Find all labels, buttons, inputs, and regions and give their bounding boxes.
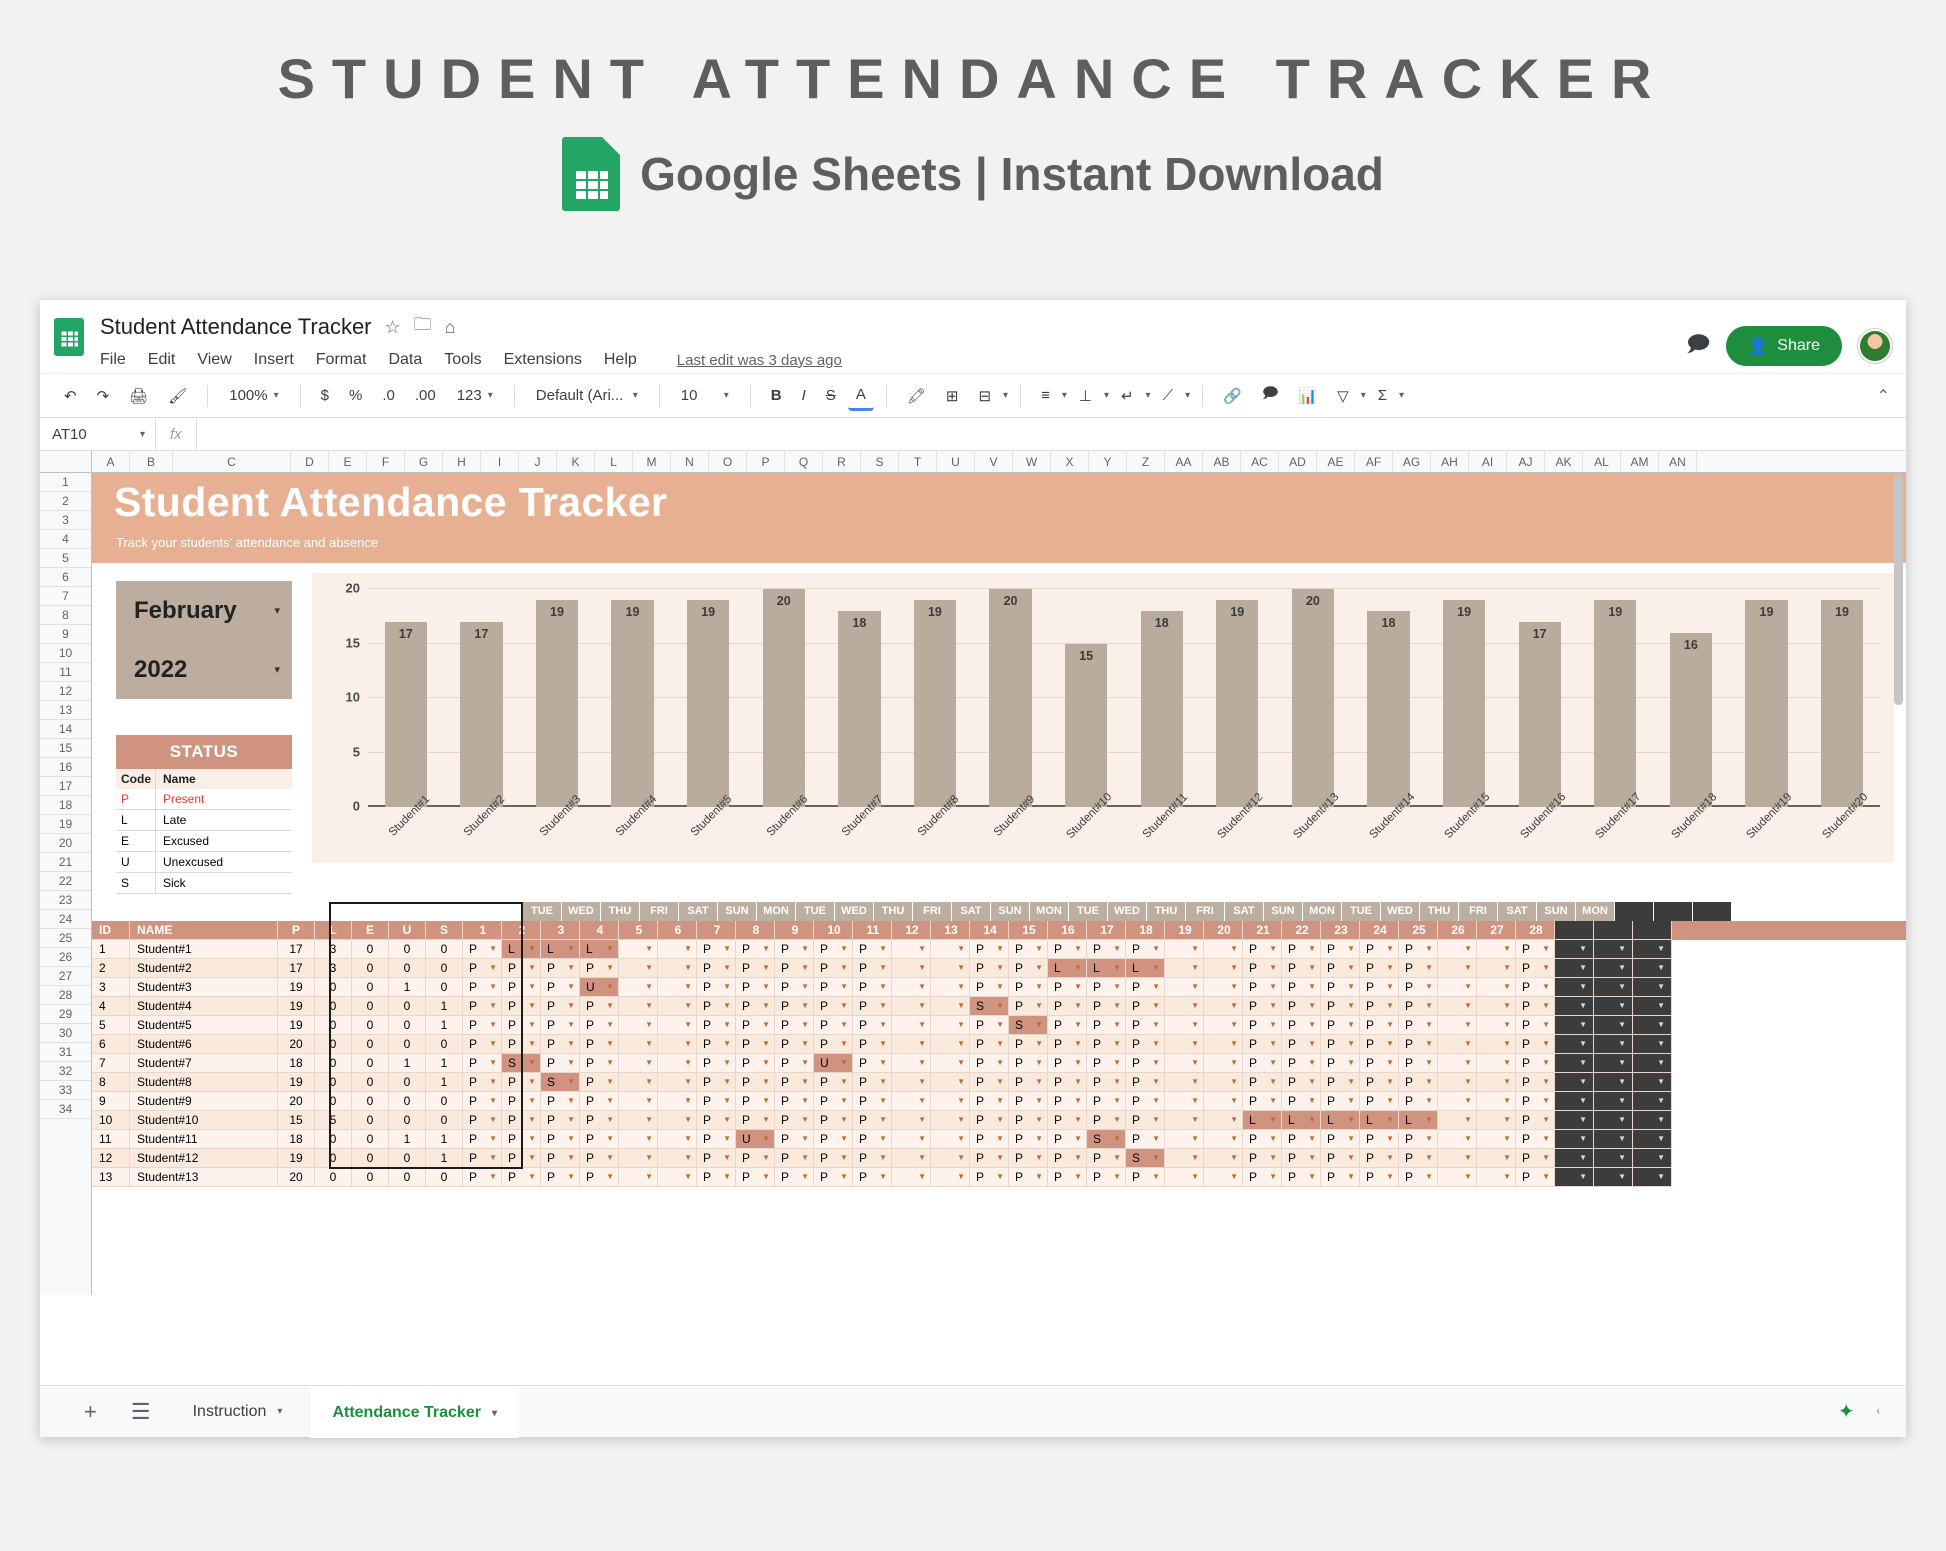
chevron-down-icon[interactable]: ▼	[1308, 1073, 1316, 1091]
chevron-down-icon[interactable]: ▼	[645, 1149, 653, 1167]
chevron-down-icon[interactable]: ▼	[1618, 1092, 1626, 1110]
chevron-down-icon[interactable]: ▼	[840, 1111, 848, 1129]
chevron-down-icon[interactable]: ▼	[1425, 1130, 1433, 1148]
attendance-cell[interactable]: P▼	[1360, 978, 1399, 997]
chevron-down-icon[interactable]: ▼	[1503, 1168, 1511, 1186]
attendance-cell[interactable]: ▼	[658, 940, 697, 959]
attendance-cell[interactable]: P▼	[463, 1130, 502, 1149]
attendance-cell[interactable]: P▼	[775, 1035, 814, 1054]
attendance-cell[interactable]: P▼	[580, 1035, 619, 1054]
chevron-down-icon[interactable]: ▼	[645, 940, 653, 958]
chevron-down-icon[interactable]: ▼	[684, 1073, 692, 1091]
chevron-down-icon[interactable]: ▼	[1269, 1054, 1277, 1072]
attendance-cell[interactable]: ▼	[619, 1149, 658, 1168]
attendance-cell[interactable]: P▼	[1048, 1035, 1087, 1054]
chevron-down-icon[interactable]: ▼	[1425, 1149, 1433, 1167]
chevron-down-icon[interactable]: ▼	[1657, 1092, 1665, 1110]
attendance-cell[interactable]: ▼	[619, 1130, 658, 1149]
attendance-cell[interactable]: P▼	[970, 959, 1009, 978]
attendance-cell[interactable]: P▼	[814, 1168, 853, 1187]
attendance-cell[interactable]: P▼	[1321, 1016, 1360, 1035]
chevron-down-icon[interactable]: ▼	[1503, 1035, 1511, 1053]
empty-dark-cell[interactable]: ▼	[1594, 1111, 1633, 1130]
attendance-cell[interactable]: P▼	[1126, 1130, 1165, 1149]
chevron-down-icon[interactable]: ▼	[723, 1016, 731, 1034]
attendance-cell[interactable]: ▼	[931, 1035, 970, 1054]
attendance-cell[interactable]: ▼	[658, 997, 697, 1016]
attendance-cell[interactable]: P▼	[1321, 1149, 1360, 1168]
attendance-cell[interactable]: P▼	[541, 1092, 580, 1111]
chevron-down-icon[interactable]: ▼	[567, 1054, 575, 1072]
chevron-down-icon[interactable]: ▼	[957, 1111, 965, 1129]
attendance-cell[interactable]: P▼	[1321, 1130, 1360, 1149]
attendance-cell[interactable]: L▼	[1321, 1111, 1360, 1130]
chevron-down-icon[interactable]: ▼	[1425, 940, 1433, 958]
attendance-cell[interactable]: P▼	[814, 1092, 853, 1111]
chevron-down-icon[interactable]: ▼	[1308, 1130, 1316, 1148]
chevron-down-icon[interactable]: ▼	[1308, 940, 1316, 958]
attendance-cell[interactable]: P▼	[1516, 959, 1555, 978]
chevron-down-icon[interactable]: ▼	[1542, 978, 1550, 996]
attendance-cell[interactable]: P▼	[1399, 1092, 1438, 1111]
attendance-cell[interactable]: P▼	[814, 1016, 853, 1035]
attendance-cell[interactable]: P▼	[580, 1092, 619, 1111]
attendance-cell[interactable]: P▼	[463, 1149, 502, 1168]
attendance-cell[interactable]: P▼	[580, 1073, 619, 1092]
attendance-cell[interactable]: P▼	[580, 1054, 619, 1073]
chevron-down-icon[interactable]: ▼	[762, 1073, 770, 1091]
chevron-down-icon[interactable]: ▼	[1035, 1111, 1043, 1129]
vertical-align-icon[interactable]: ⊥	[1071, 382, 1100, 410]
attendance-cell[interactable]: P▼	[502, 1149, 541, 1168]
chevron-down-icon[interactable]: ▼	[723, 1111, 731, 1129]
chevron-down-icon[interactable]: ▼	[606, 1092, 614, 1110]
chevron-down-icon[interactable]: ▼	[684, 978, 692, 996]
chevron-down-icon[interactable]: ▼	[1542, 1130, 1550, 1148]
attendance-cell[interactable]: ▼	[1204, 997, 1243, 1016]
chevron-down-icon[interactable]: ▼	[489, 1092, 497, 1110]
attendance-cell[interactable]: P▼	[853, 997, 892, 1016]
empty-dark-cell[interactable]: ▼	[1633, 1054, 1672, 1073]
chevron-down-icon[interactable]: ▼	[528, 1130, 536, 1148]
attendance-cell[interactable]: P▼	[1360, 997, 1399, 1016]
attendance-cell[interactable]: P▼	[697, 1130, 736, 1149]
chevron-down-icon[interactable]: ▼	[879, 1092, 887, 1110]
chevron-down-icon[interactable]: ▼	[801, 1092, 809, 1110]
chevron-down-icon[interactable]: ▼	[1425, 978, 1433, 996]
chevron-down-icon[interactable]: ▼	[1035, 1130, 1043, 1148]
column-header-u[interactable]: U	[937, 451, 975, 472]
chevron-down-icon[interactable]: ▼	[1386, 1092, 1394, 1110]
chevron-down-icon[interactable]: ▼	[1503, 1111, 1511, 1129]
row-header-9[interactable]: 9	[40, 625, 91, 644]
attendance-cell[interactable]: L▼	[1399, 1111, 1438, 1130]
chevron-down-icon[interactable]: ▼	[1191, 1149, 1199, 1167]
chevron-down-icon[interactable]: ▼	[528, 1073, 536, 1091]
chevron-down-icon[interactable]: ▼	[489, 1149, 497, 1167]
attendance-cell[interactable]: ▼	[1165, 1054, 1204, 1073]
attendance-cell[interactable]: P▼	[736, 1054, 775, 1073]
chevron-down-icon[interactable]: ▼	[918, 1149, 926, 1167]
chevron-down-icon[interactable]: ▼	[1618, 1073, 1626, 1091]
chevron-down-icon[interactable]: ▼	[723, 1073, 731, 1091]
chevron-down-icon[interactable]: ▼	[1308, 1035, 1316, 1053]
sheet-tab-attendance-tracker[interactable]: Attendance Tracker ▾	[310, 1386, 519, 1438]
column-header-v[interactable]: V	[975, 451, 1013, 472]
attendance-cell[interactable]: P▼	[1360, 1016, 1399, 1035]
chevron-down-icon[interactable]: ▼	[1347, 940, 1355, 958]
attendance-cell[interactable]: P▼	[1048, 1111, 1087, 1130]
chevron-down-icon[interactable]: ▼	[1074, 1073, 1082, 1091]
chevron-down-icon[interactable]: ▼	[1542, 1168, 1550, 1186]
chevron-down-icon[interactable]: ▼	[567, 1035, 575, 1053]
chevron-down-icon[interactable]: ▼	[918, 1168, 926, 1186]
attendance-cell[interactable]: ▼	[1477, 1035, 1516, 1054]
chevron-down-icon[interactable]: ▼	[1152, 1168, 1160, 1186]
attendance-cell[interactable]: P▼	[1399, 1035, 1438, 1054]
chevron-down-icon[interactable]: ▼	[723, 1168, 731, 1186]
column-header-am[interactable]: AM	[1621, 451, 1659, 472]
chevron-down-icon[interactable]: ▼	[1308, 1016, 1316, 1034]
chevron-down-icon[interactable]: ▼	[489, 1054, 497, 1072]
chevron-down-icon[interactable]: ▼	[489, 940, 497, 958]
horizontal-align-icon[interactable]: ≡	[1033, 382, 1058, 409]
attendance-cell[interactable]: P▼	[1009, 1092, 1048, 1111]
chevron-down-icon[interactable]: ▼	[1074, 1111, 1082, 1129]
chevron-down-icon[interactable]: ▼	[879, 997, 887, 1015]
empty-dark-cell[interactable]: ▼	[1633, 978, 1672, 997]
attendance-cell[interactable]: P▼	[970, 1016, 1009, 1035]
empty-dark-cell[interactable]: ▼	[1594, 1168, 1633, 1187]
attendance-cell[interactable]: P▼	[541, 1016, 580, 1035]
chevron-down-icon[interactable]: ▼	[1347, 1092, 1355, 1110]
chevron-down-icon[interactable]: ▼	[1113, 997, 1121, 1015]
move-to-folder-icon[interactable]: 🗀	[414, 312, 432, 342]
attendance-cell[interactable]: P▼	[970, 1111, 1009, 1130]
chevron-down-icon[interactable]: ▼	[723, 997, 731, 1015]
chevron-down-icon[interactable]: ▼	[1191, 1092, 1199, 1110]
chevron-down-icon[interactable]: ▼	[1347, 1168, 1355, 1186]
chevron-down-icon[interactable]: ▼	[879, 978, 887, 996]
attendance-cell[interactable]: P▼	[853, 978, 892, 997]
chevron-down-icon[interactable]: ▼	[801, 1111, 809, 1129]
attendance-cell[interactable]: P▼	[502, 1016, 541, 1035]
chevron-down-icon[interactable]: ▼	[645, 1130, 653, 1148]
row-header-19[interactable]: 19	[40, 815, 91, 834]
attendance-cell[interactable]: P▼	[580, 1111, 619, 1130]
attendance-cell[interactable]: P▼	[1126, 1092, 1165, 1111]
chevron-down-icon[interactable]: ▼	[1035, 1168, 1043, 1186]
row-header-6[interactable]: 6	[40, 568, 91, 587]
attendance-cell[interactable]: P▼	[463, 1054, 502, 1073]
row-header-2[interactable]: 2	[40, 492, 91, 511]
attendance-cell[interactable]: P▼	[1126, 1016, 1165, 1035]
attendance-cell[interactable]: P▼	[970, 1073, 1009, 1092]
chevron-down-icon[interactable]: ▼	[1542, 1092, 1550, 1110]
row-header-31[interactable]: 31	[40, 1043, 91, 1062]
attendance-cell[interactable]: ▼	[1165, 1130, 1204, 1149]
undo-icon[interactable]: ↶	[56, 382, 85, 410]
chevron-down-icon[interactable]: ▼	[801, 940, 809, 958]
attendance-cell[interactable]: ▼	[619, 978, 658, 997]
attendance-cell[interactable]: P▼	[1360, 1054, 1399, 1073]
chevron-down-icon[interactable]: ▼	[606, 940, 614, 958]
chevron-down-icon[interactable]: ▼	[1269, 1168, 1277, 1186]
chevron-down-icon[interactable]: ▼	[1503, 1073, 1511, 1091]
attendance-cell[interactable]: ▼	[1438, 940, 1477, 959]
chevron-down-icon[interactable]: ▼	[1152, 1092, 1160, 1110]
empty-dark-cell[interactable]: ▼	[1594, 1016, 1633, 1035]
chevron-down-icon[interactable]: ▼	[606, 1130, 614, 1148]
chevron-down-icon[interactable]: ▼	[1074, 959, 1082, 977]
attendance-cell[interactable]: ▼	[1438, 1168, 1477, 1187]
chevron-down-icon[interactable]: ▼	[567, 1073, 575, 1091]
attendance-cell[interactable]: P▼	[463, 1035, 502, 1054]
comment-icon[interactable]: 🗩	[1686, 327, 1710, 365]
attendance-cell[interactable]: ▼	[1204, 959, 1243, 978]
chevron-down-icon[interactable]: ▼	[1113, 1054, 1121, 1072]
share-button[interactable]: 👤 Share	[1726, 326, 1842, 366]
chevron-down-icon[interactable]: ▼	[918, 1092, 926, 1110]
attendance-cell[interactable]: P▼	[1399, 1073, 1438, 1092]
vertical-scrollbar[interactable]	[1893, 475, 1904, 1235]
chevron-down-icon[interactable]: ▼	[528, 940, 536, 958]
chevron-down-icon[interactable]: ▼	[606, 959, 614, 977]
chevron-down-icon[interactable]: ▼	[1269, 1130, 1277, 1148]
attendance-cell[interactable]: ▼	[658, 978, 697, 997]
chevron-down-icon[interactable]: ▼	[801, 959, 809, 977]
chevron-down-icon[interactable]: ▼	[723, 1035, 731, 1053]
attendance-cell[interactable]: L▼	[580, 940, 619, 959]
chevron-down-icon[interactable]: ▼	[879, 1168, 887, 1186]
row-header-34[interactable]: 34	[40, 1100, 91, 1119]
chevron-down-icon[interactable]: ▼	[1230, 1130, 1238, 1148]
chevron-down-icon[interactable]: ▼	[840, 959, 848, 977]
attendance-cell[interactable]: ▼	[931, 1054, 970, 1073]
chevron-down-icon[interactable]: ▼	[489, 1016, 497, 1034]
chevron-down-icon[interactable]: ▼	[1230, 1073, 1238, 1091]
chevron-down-icon[interactable]: ▼	[567, 1168, 575, 1186]
attendance-cell[interactable]: P▼	[1399, 1168, 1438, 1187]
attendance-cell[interactable]: P▼	[1516, 1073, 1555, 1092]
chevron-down-icon[interactable]: ▼	[1074, 1130, 1082, 1148]
chevron-down-icon[interactable]: ▼	[1386, 1054, 1394, 1072]
attendance-cell[interactable]: P▼	[1399, 978, 1438, 997]
chevron-down-icon[interactable]: ▼	[1074, 978, 1082, 996]
column-header-j[interactable]: J	[519, 451, 557, 472]
column-header-g[interactable]: G	[405, 451, 443, 472]
chevron-down-icon[interactable]: ▼	[528, 1149, 536, 1167]
chevron-down-icon[interactable]: ▼	[684, 1130, 692, 1148]
chevron-down-icon[interactable]: ▼	[489, 1130, 497, 1148]
attendance-cell[interactable]: P▼	[697, 1054, 736, 1073]
attendance-cell[interactable]: ▼	[619, 1073, 658, 1092]
chevron-down-icon[interactable]: ▼	[1347, 1016, 1355, 1034]
chevron-down-icon[interactable]: ▼	[801, 1168, 809, 1186]
attendance-cell[interactable]: P▼	[853, 940, 892, 959]
attendance-cell[interactable]: ▼	[1204, 940, 1243, 959]
attendance-cell[interactable]: P▼	[814, 997, 853, 1016]
attendance-cell[interactable]: P▼	[1126, 1054, 1165, 1073]
row-header-26[interactable]: 26	[40, 948, 91, 967]
attendance-cell[interactable]: P▼	[1009, 997, 1048, 1016]
attendance-cell[interactable]: ▼	[658, 1149, 697, 1168]
attendance-cell[interactable]: P▼	[1009, 940, 1048, 959]
chevron-down-icon[interactable]: ▼	[1542, 997, 1550, 1015]
empty-dark-cell[interactable]: ▼	[1555, 997, 1594, 1016]
chevron-down-icon[interactable]: ▼	[723, 1130, 731, 1148]
chevron-left-icon[interactable]: ‹	[1877, 1406, 1880, 1417]
attendance-cell[interactable]: P▼	[775, 1149, 814, 1168]
attendance-cell[interactable]: P▼	[1360, 1092, 1399, 1111]
chevron-down-icon[interactable]: ▼	[957, 978, 965, 996]
chevron-down-icon[interactable]: ▼	[996, 1073, 1004, 1091]
attendance-cell[interactable]: P▼	[1048, 1130, 1087, 1149]
chevron-down-icon[interactable]: ▼	[957, 1130, 965, 1148]
chevron-down-icon[interactable]: ▼	[1074, 1149, 1082, 1167]
attendance-cell[interactable]: ▼	[1438, 1073, 1477, 1092]
attendance-cell[interactable]: P▼	[1243, 1168, 1282, 1187]
attendance-cell[interactable]: P▼	[1126, 1035, 1165, 1054]
strikethrough-button[interactable]: S	[818, 382, 844, 409]
chevron-down-icon[interactable]: ▼	[957, 959, 965, 977]
row-header-10[interactable]: 10	[40, 644, 91, 663]
all-sheets-icon[interactable]: ☰	[117, 1399, 165, 1425]
attendance-cell[interactable]: ▼	[658, 1092, 697, 1111]
chevron-down-icon[interactable]: ▼	[567, 1016, 575, 1034]
attendance-cell[interactable]: P▼	[1009, 1073, 1048, 1092]
borders-icon[interactable]: ⊞	[938, 382, 967, 410]
attendance-cell[interactable]: ▼	[892, 940, 931, 959]
chevron-down-icon[interactable]: ▼	[1542, 1035, 1550, 1053]
chevron-down-icon[interactable]: ▼	[1308, 1092, 1316, 1110]
chevron-down-icon[interactable]: ▼	[1230, 1016, 1238, 1034]
chevron-down-icon[interactable]: ▼	[918, 978, 926, 996]
add-sheet-icon[interactable]: +	[70, 1399, 111, 1425]
empty-dark-cell[interactable]: ▼	[1594, 1035, 1633, 1054]
attendance-cell[interactable]: P▼	[1282, 1168, 1321, 1187]
text-wrap-icon[interactable]: ↵	[1113, 382, 1142, 410]
attendance-cell[interactable]: P▼	[1399, 940, 1438, 959]
attendance-cell[interactable]: P▼	[1243, 959, 1282, 978]
attendance-cell[interactable]: P▼	[1048, 940, 1087, 959]
chevron-down-icon[interactable]: ▼	[879, 1016, 887, 1034]
attendance-cell[interactable]: ▼	[1438, 1111, 1477, 1130]
column-header-p[interactable]: P	[747, 451, 785, 472]
chevron-down-icon[interactable]: ▼	[1308, 1054, 1316, 1072]
attendance-cell[interactable]: P▼	[1282, 1149, 1321, 1168]
cloud-saved-icon[interactable]: ⌂	[445, 317, 456, 338]
chevron-down-icon[interactable]: ▼	[567, 978, 575, 996]
chevron-down-icon[interactable]: ▼	[684, 1168, 692, 1186]
chevron-down-icon[interactable]: ▼	[1308, 1168, 1316, 1186]
chevron-down-icon[interactable]: ▼	[1425, 959, 1433, 977]
attendance-cell[interactable]: ▼	[1165, 1035, 1204, 1054]
attendance-cell[interactable]: P▼	[853, 1092, 892, 1111]
chevron-down-icon[interactable]: ▼	[1464, 1092, 1472, 1110]
row-header-18[interactable]: 18	[40, 796, 91, 815]
attendance-cell[interactable]: P▼	[736, 1073, 775, 1092]
attendance-cell[interactable]: P▼	[463, 959, 502, 978]
chevron-down-icon[interactable]: ▼	[762, 1092, 770, 1110]
chevron-down-icon[interactable]: ▼	[840, 940, 848, 958]
empty-dark-cell[interactable]: ▼	[1633, 1092, 1672, 1111]
chevron-down-icon[interactable]: ▼	[645, 978, 653, 996]
chevron-down-icon[interactable]: ▼	[918, 1073, 926, 1091]
attendance-cell[interactable]: P▼	[736, 978, 775, 997]
attendance-cell[interactable]: P▼	[580, 959, 619, 978]
attendance-cell[interactable]: ▼	[892, 959, 931, 978]
attendance-cell[interactable]: P▼	[463, 1168, 502, 1187]
chevron-down-icon[interactable]: ▼	[1464, 1111, 1472, 1129]
chevron-down-icon[interactable]: ▼	[996, 1130, 1004, 1148]
menu-file[interactable]: File	[100, 351, 126, 369]
chevron-down-icon[interactable]: ▼	[996, 1111, 1004, 1129]
attendance-cell[interactable]: P▼	[775, 1092, 814, 1111]
chevron-down-icon[interactable]: ▼	[1386, 978, 1394, 996]
chevron-down-icon[interactable]: ▼	[1464, 1149, 1472, 1167]
attendance-cell[interactable]: P▼	[541, 978, 580, 997]
empty-dark-cell[interactable]: ▼	[1594, 1130, 1633, 1149]
attendance-cell[interactable]: P▼	[1048, 1168, 1087, 1187]
column-header-i[interactable]: I	[481, 451, 519, 472]
redo-icon[interactable]: ↷	[89, 382, 118, 410]
empty-dark-cell[interactable]: ▼	[1555, 1092, 1594, 1111]
chevron-down-icon[interactable]: ▼	[1113, 940, 1121, 958]
chevron-down-icon[interactable]: ▼	[1579, 940, 1587, 958]
chevron-down-icon[interactable]: ▼	[1074, 1035, 1082, 1053]
chevron-down-icon[interactable]: ▼	[645, 1073, 653, 1091]
attendance-cell[interactable]: P▼	[1243, 1035, 1282, 1054]
attendance-cell[interactable]: P▼	[1126, 1168, 1165, 1187]
attendance-cell[interactable]: P▼	[541, 1130, 580, 1149]
chevron-down-icon[interactable]: ▼	[1113, 959, 1121, 977]
chevron-down-icon[interactable]: ▼	[1503, 997, 1511, 1015]
chevron-down-icon[interactable]: ▼	[1464, 1168, 1472, 1186]
column-header-an[interactable]: AN	[1659, 451, 1697, 472]
chevron-down-icon[interactable]: ▼	[1464, 978, 1472, 996]
attendance-cell[interactable]: P▼	[502, 1035, 541, 1054]
chevron-down-icon[interactable]: ▼	[762, 1130, 770, 1148]
column-header-o[interactable]: O	[709, 451, 747, 472]
chevron-down-icon[interactable]: ▼	[1579, 1130, 1587, 1148]
chevron-down-icon[interactable]: ▼	[1657, 978, 1665, 996]
attendance-cell[interactable]: U▼	[736, 1130, 775, 1149]
chevron-down-icon[interactable]: ▼	[645, 1016, 653, 1034]
attendance-cell[interactable]: P▼	[502, 1111, 541, 1130]
increase-decimal-button[interactable]: .00	[407, 382, 444, 409]
bold-button[interactable]: B	[763, 382, 790, 409]
chevron-down-icon[interactable]: ▼	[1230, 1092, 1238, 1110]
attendance-cell[interactable]: P▼	[736, 1035, 775, 1054]
select-all-corner[interactable]	[40, 451, 92, 472]
attendance-cell[interactable]: ▼	[892, 1054, 931, 1073]
attendance-cell[interactable]: P▼	[736, 1111, 775, 1130]
attendance-cell[interactable]: P▼	[736, 1149, 775, 1168]
chevron-down-icon[interactable]: ▼	[567, 997, 575, 1015]
chevron-down-icon[interactable]: ▼	[1503, 978, 1511, 996]
attendance-cell[interactable]: P▼	[1282, 1073, 1321, 1092]
attendance-cell[interactable]: P▼	[814, 978, 853, 997]
attendance-cell[interactable]: P▼	[1321, 1035, 1360, 1054]
attendance-cell[interactable]: P▼	[1360, 1035, 1399, 1054]
row-header-24[interactable]: 24	[40, 910, 91, 929]
chevron-down-icon[interactable]: ▼	[840, 1130, 848, 1148]
attendance-cell[interactable]: P▼	[1243, 1092, 1282, 1111]
chevron-down-icon[interactable]: ▼	[801, 1149, 809, 1167]
menu-help[interactable]: Help	[604, 351, 637, 369]
attendance-cell[interactable]: P▼	[463, 940, 502, 959]
